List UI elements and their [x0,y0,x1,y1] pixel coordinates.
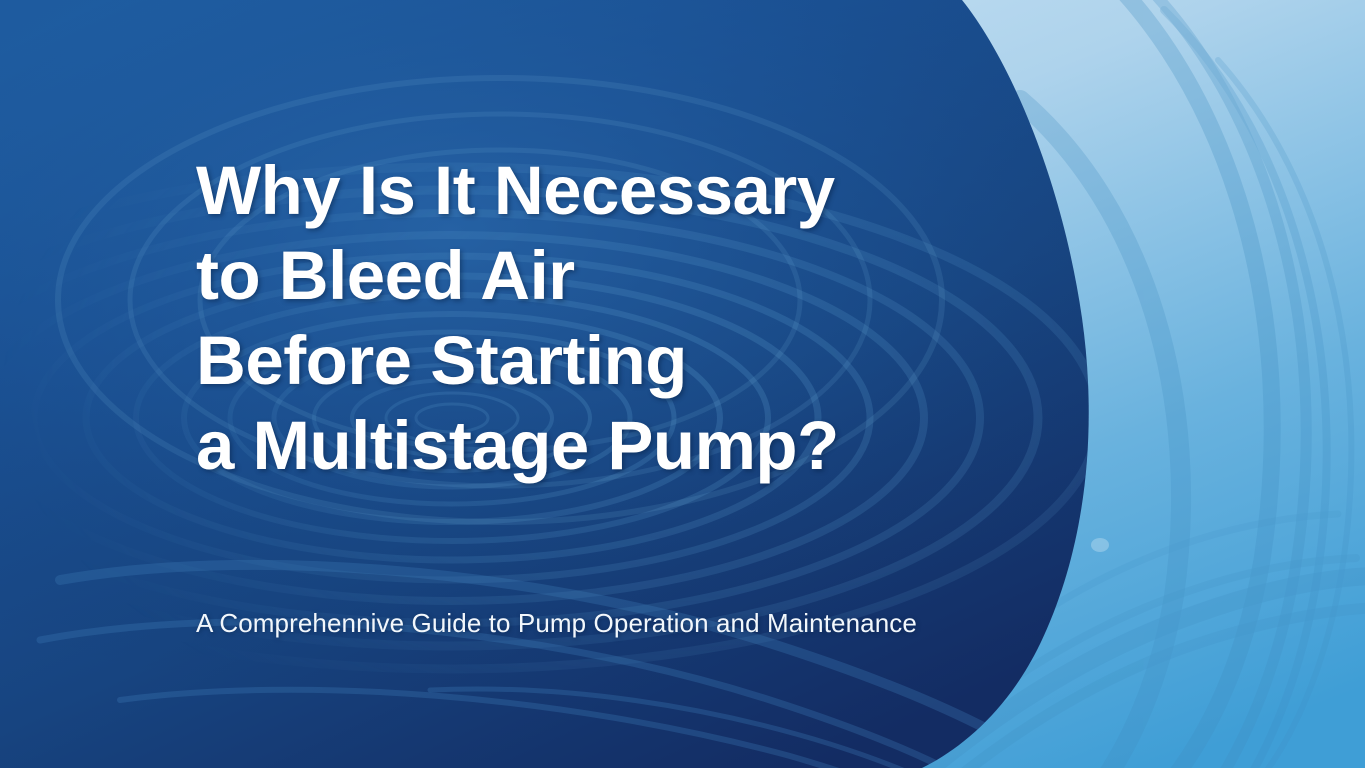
title-line-2: to Bleed Air [196,233,1016,318]
title-line-4: a Multistage Pump? [196,403,1016,488]
title-block: Why Is It Necessary to Bleed Air Before … [196,148,1016,488]
title-line-1: Why Is It Necessary [196,148,1016,233]
title-slide: Why Is It Necessary to Bleed Air Before … [0,0,1365,768]
droplet-highlight [1091,538,1109,552]
title-line-3: Before Starting [196,318,1016,403]
subtitle: A Comprehennive Guide to Pump Operation … [196,608,917,639]
